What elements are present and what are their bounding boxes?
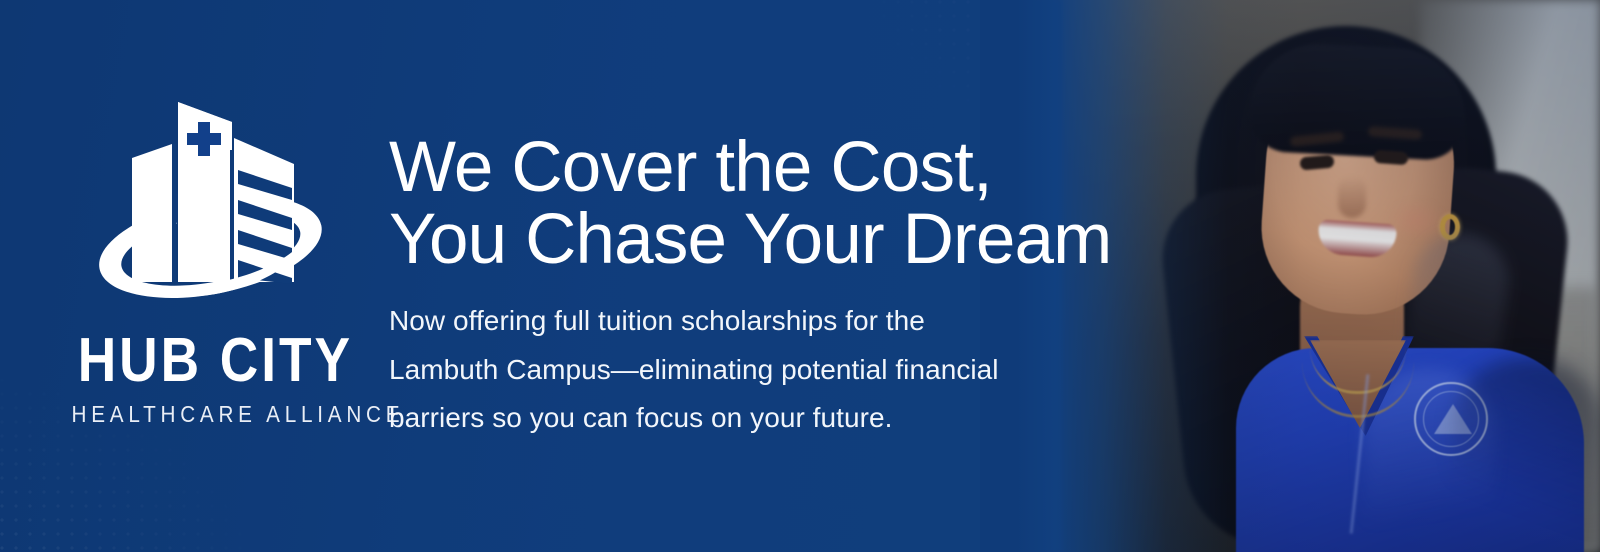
brand-logo-lockup: HUB CITY HEALTHCARE ALLIANCE [56,92,366,428]
headline-line-2: You Chase Your Dream [389,204,1119,276]
page-title: We Cover the Cost, You Chase Your Dream [389,132,1119,275]
logo-wordmark: HUB CITY [78,331,345,391]
promo-copy: We Cover the Cost, You Chase Your Dream … [389,132,1119,442]
headline-line-1: We Cover the Cost, [389,132,1119,204]
body-line-1: Now offering full tuition scholarships f… [389,297,1119,345]
logo-tagline: HEALTHCARE ALLIANCE [72,401,351,428]
promo-description: Now offering full tuition scholarships f… [389,297,1119,441]
promo-banner: HUB CITY HEALTHCARE ALLIANCE We Cover th… [0,0,1600,552]
body-line-3: barriers so you can focus on your future… [389,394,1119,442]
body-line-2: Lambuth Campus—eliminating potential fin… [389,346,1119,394]
hospital-building-with-cross-and-swoosh-icon [86,92,336,317]
